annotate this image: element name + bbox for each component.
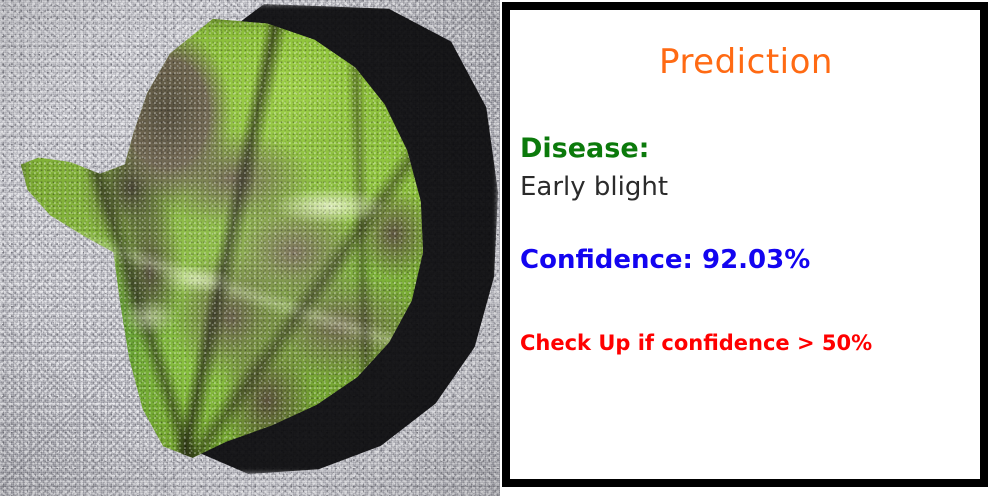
prediction-title: Prediction: [520, 42, 972, 82]
image-vignette: [0, 0, 500, 496]
prediction-app: Prediction Disease: Early blight Confide…: [0, 0, 998, 496]
prediction-panel: Prediction Disease: Early blight Confide…: [500, 0, 998, 496]
disease-value: Early blight: [520, 173, 972, 201]
leaf-image-panel: [0, 0, 500, 496]
prediction-card: Prediction Disease: Early blight Confide…: [502, 2, 988, 487]
checkup-warning: Check Up if confidence > 50%: [520, 332, 972, 355]
prediction-details: Disease: Early blight Confidence: 92.03%…: [520, 134, 972, 355]
confidence-line: Confidence: 92.03%: [520, 246, 972, 274]
disease-label: Disease:: [520, 134, 972, 163]
